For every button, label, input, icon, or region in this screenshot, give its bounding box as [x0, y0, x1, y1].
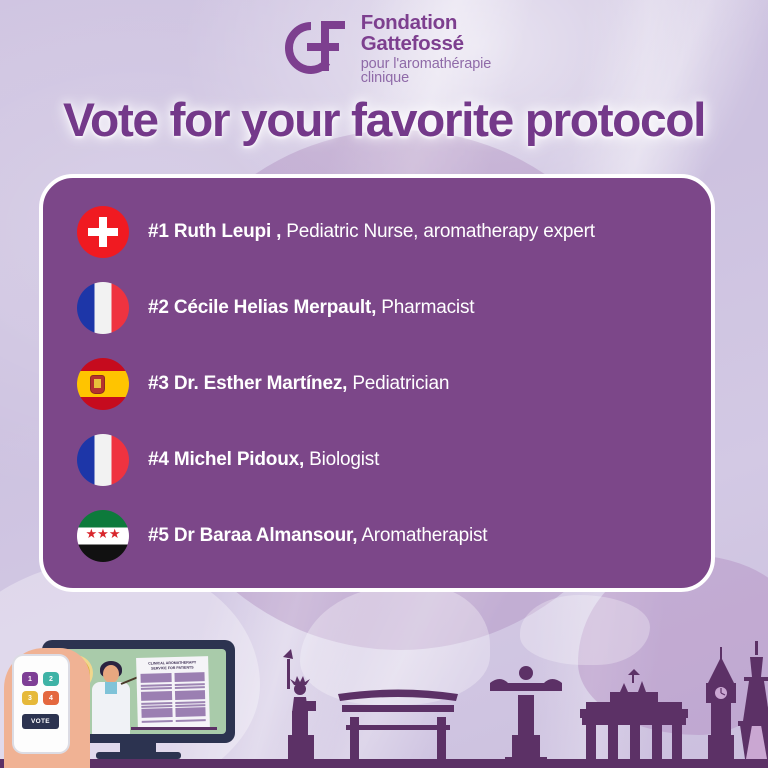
candidate-name: Michel Pidoux, — [174, 449, 304, 470]
france-flag-icon — [77, 434, 129, 486]
candidate-rank: #5 — [148, 525, 169, 546]
candidate-title: Pharmacist — [381, 297, 474, 318]
candidate-name: Cécile Helias Merpault, — [174, 297, 376, 318]
syria-flag-icon: ★★★ — [77, 510, 129, 562]
list-item[interactable]: #2 Cécile Helias Merpault, Pharmacist — [43, 282, 711, 334]
vote-options-grid: 1 2 3 4 — [22, 672, 59, 705]
candidate-rank: #3 — [148, 373, 169, 394]
vote-option-3[interactable]: 3 — [22, 691, 38, 705]
vote-option-2[interactable]: 2 — [43, 672, 59, 686]
vote-button[interactable]: VOTE — [22, 714, 59, 729]
smartphone-illustration: 1 2 3 4 VOTE — [14, 656, 68, 752]
candidate-name: Ruth Leupi , — [174, 221, 281, 242]
candidate-title: Biologist — [309, 449, 379, 470]
candidate-title: Pediatrician — [352, 373, 449, 394]
list-item[interactable]: #4 Michel Pidoux, Biologist — [43, 434, 711, 486]
statue-of-liberty-icon — [283, 649, 316, 759]
list-item[interactable]: #3 Dr. Esther Martínez, Pediatrician — [43, 358, 711, 410]
world-landmarks-skyline — [250, 639, 768, 759]
poster-columns — [136, 672, 209, 724]
candidate-text: #3 Dr. Esther Martínez, Pediatrician — [148, 373, 449, 395]
brand-wordmark: Fondation Gattefossé pour l'aromathérapi… — [361, 11, 492, 86]
candidate-name: Dr. Esther Martínez, — [174, 373, 347, 394]
brand-line-3: pour l'aromathérapie — [361, 57, 492, 72]
spain-flag-icon — [77, 358, 129, 410]
presenter-collar — [105, 682, 117, 694]
candidate-rank: #1 — [148, 221, 169, 242]
presenter-head — [103, 665, 119, 683]
switzerland-flag-icon — [77, 206, 129, 258]
torii-gate-icon — [338, 690, 458, 760]
poster-title-line-2: SERVICE FOR PATIENTS — [151, 665, 194, 670]
candidate-title: Aromatherapist — [361, 525, 487, 546]
ground-line — [0, 759, 768, 768]
list-item[interactable]: ★★★ #5 Dr Baraa Almansour, Aromatherapis… — [43, 510, 711, 562]
candidate-text: #4 Michel Pidoux, Biologist — [148, 449, 379, 471]
brand-line-4: clinique — [361, 71, 492, 86]
poster-easel — [131, 727, 217, 730]
big-ben-icon — [706, 647, 736, 759]
candidates-card: #1 Ruth Leupi , Pediatric Nurse, aromath… — [39, 174, 715, 592]
spain-coat-of-arms-icon — [90, 375, 105, 394]
candidate-title: Pediatric Nurse, aromatherapy expert — [286, 221, 595, 242]
list-item[interactable]: #1 Ruth Leupi , Pediatric Nurse, aromath… — [43, 206, 711, 258]
vote-option-4[interactable]: 4 — [43, 691, 59, 705]
eiffel-tower-icon — [738, 641, 768, 759]
candidate-text: #2 Cécile Helias Merpault, Pharmacist — [148, 297, 474, 319]
poster-canvas: Fondation Gattefossé pour l'aromathérapi… — [0, 0, 768, 768]
france-flag-icon — [77, 282, 129, 334]
vote-option-1[interactable]: 1 — [22, 672, 38, 686]
page-title: Vote for your favorite protocol — [0, 92, 768, 147]
christ-the-redeemer-icon — [490, 666, 562, 759]
syria-stars-icon: ★★★ — [77, 527, 129, 540]
bottom-illustration: CLINICAL AROMATHERAPY SERVICE FOR PATIEN… — [0, 598, 768, 768]
candidate-rank: #4 — [148, 449, 169, 470]
monitor-base — [96, 752, 181, 759]
research-poster-title: CLINICAL AROMATHERAPY SERVICE FOR PATIEN… — [136, 656, 208, 674]
candidates-list: #1 Ruth Leupi , Pediatric Nurse, aromath… — [43, 202, 711, 562]
poster-column — [174, 672, 206, 723]
gf-monogram-icon — [277, 17, 351, 79]
candidate-name: Dr Baraa Almansour, — [174, 525, 357, 546]
candidate-text: #5 Dr Baraa Almansour, Aromatherapist — [148, 525, 487, 547]
poster-column — [140, 673, 172, 724]
candidate-rank: #2 — [148, 297, 169, 318]
brand-logo: Fondation Gattefossé pour l'aromathérapi… — [0, 10, 768, 86]
research-poster: CLINICAL AROMATHERAPY SERVICE FOR PATIEN… — [136, 656, 210, 730]
brandenburg-gate-icon — [580, 669, 688, 759]
brand-line-2: Gattefossé — [361, 34, 492, 55]
candidate-text: #1 Ruth Leupi , Pediatric Nurse, aromath… — [148, 221, 595, 243]
brand-line-1: Fondation — [361, 13, 492, 34]
